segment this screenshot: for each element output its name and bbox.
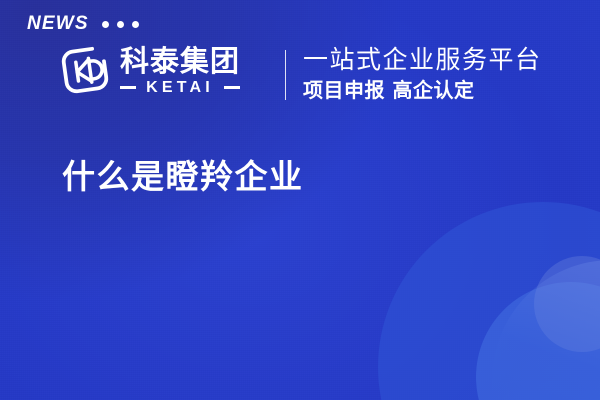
- brand-wordmark: 科泰集团 KETAI: [120, 44, 240, 95]
- slogan-block: 一站式企业服务平台 项目申报 高企认定: [303, 46, 542, 103]
- brand-lockup: 科泰集团 KETAI: [60, 44, 240, 96]
- ketai-diamond-kd-logo-icon: [60, 44, 110, 96]
- brand-divider: [285, 50, 286, 100]
- brand-name-en-row: KETAI: [120, 80, 240, 96]
- brand-rule-left: [120, 86, 136, 89]
- news-banner: NEWS 科泰集团 KETAI: [0, 0, 600, 400]
- news-tag: NEWS: [27, 14, 139, 33]
- decorative-circle-mid: [476, 282, 600, 400]
- slogan-main: 一站式企业服务平台: [303, 46, 542, 75]
- decorative-wedge: [492, 260, 600, 400]
- page-title: 什么是瞪羚企业: [62, 157, 304, 197]
- news-dots-icon: [102, 21, 139, 28]
- brand-name-en: KETAI: [141, 80, 219, 96]
- slogan-sub: 项目申报 高企认定: [303, 78, 542, 103]
- decorative-circle-small: [534, 256, 600, 352]
- brand-rule-right: [224, 86, 240, 89]
- decorative-circle-large: [378, 202, 600, 400]
- news-label: NEWS: [27, 14, 89, 33]
- brand-name-cn: 科泰集团: [120, 46, 240, 76]
